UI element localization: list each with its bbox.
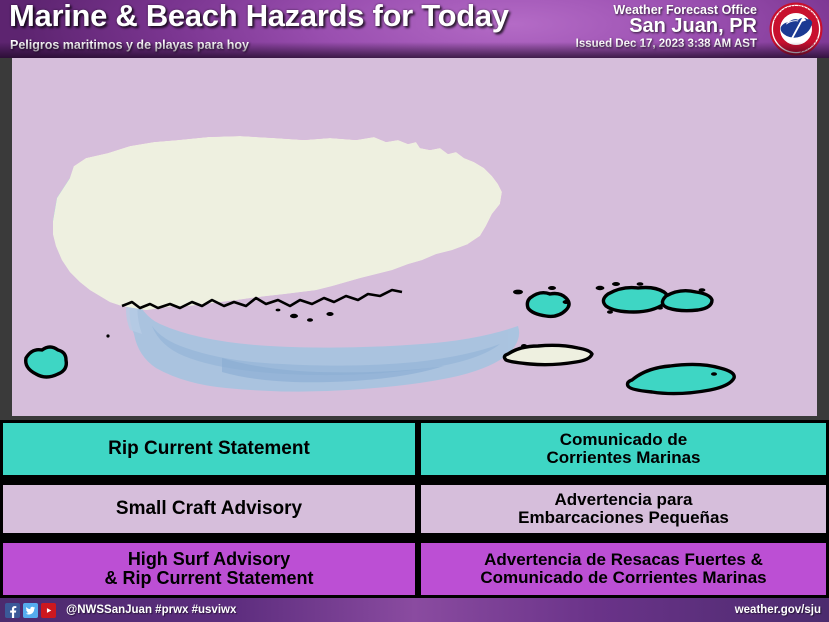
social-links: @NWSSanJuan #prwx #usviwx (5, 603, 236, 618)
page-subtitle-spanish: Peligros maritimos y de playas para hoy (10, 38, 249, 52)
nws-logo-icon: N A T I O N A L W E A T H E R S E R V I (767, 2, 825, 56)
forecast-office-city: San Juan, PR (576, 16, 757, 37)
legend-text: Rip Current Statement (108, 439, 310, 460)
legend-label-en-small-craft: Small Craft Advisory (0, 482, 418, 536)
legend-text-line2: Corrientes Marinas (547, 449, 701, 467)
svg-text:E: E (799, 48, 803, 54)
hazard-map[interactable] (12, 58, 817, 416)
legend-label-en-rip-current: Rip Current Statement (0, 420, 418, 478)
legend-text-line2: & Rip Current Statement (104, 569, 313, 588)
page-title: Marine & Beach Hazards for Today (9, 0, 509, 34)
map-frame (0, 58, 829, 420)
legend-text-line2: Comunicado de Corrientes Marinas (480, 569, 766, 587)
legend-text-line1: High Surf Advisory (104, 550, 313, 569)
legend-label-en-high-surf: High Surf Advisory & Rip Current Stateme… (0, 540, 418, 598)
legend-text-line2: Embarcaciones Pequeñas (518, 509, 729, 527)
forecast-office-block: Weather Forecast Office San Juan, PR Iss… (576, 3, 757, 50)
legend-label-es-high-surf: Advertencia de Resacas Fuertes & Comunic… (418, 540, 829, 598)
footer-bar: @NWSSanJuan #prwx #usviwx weather.gov/sj… (0, 598, 829, 622)
social-handle[interactable]: @NWSSanJuan #prwx #usviwx (66, 604, 236, 616)
facebook-icon[interactable] (5, 603, 20, 618)
legend-row-high-surf: High Surf Advisory & Rip Current Stateme… (0, 540, 829, 598)
legend-text: Small Craft Advisory (116, 499, 302, 520)
svg-text:C: C (802, 47, 807, 53)
legend-label-es-small-craft: Advertencia para Embarcaciones Pequeñas (418, 482, 829, 536)
svg-text:I: I (805, 46, 808, 51)
youtube-icon[interactable] (41, 603, 56, 618)
header-banner: Marine & Beach Hazards for Today Peligro… (0, 0, 829, 58)
twitter-icon[interactable] (23, 603, 38, 618)
legend-text-line1: Comunicado de (547, 431, 701, 449)
website-url[interactable]: weather.gov/sju (735, 604, 821, 616)
desecheo-dot (106, 334, 109, 337)
hazard-legend: Rip Current Statement Comunicado de Corr… (0, 420, 829, 598)
legend-row-rip-current: Rip Current Statement Comunicado de Corr… (0, 420, 829, 478)
legend-text-line1: Advertencia para (518, 491, 729, 509)
weather-hazard-graphic: Marine & Beach Hazards for Today Peligro… (0, 0, 829, 622)
issued-timestamp: Issued Dec 17, 2023 3:38 AM AST (576, 38, 757, 50)
legend-text-line1: Advertencia de Resacas Fuertes & (480, 551, 766, 569)
legend-row-small-craft: Small Craft Advisory Advertencia para Em… (0, 482, 829, 536)
legend-label-es-rip-current: Comunicado de Corrientes Marinas (418, 420, 829, 478)
svg-text:V: V (807, 44, 812, 50)
svg-text:R: R (810, 42, 816, 48)
